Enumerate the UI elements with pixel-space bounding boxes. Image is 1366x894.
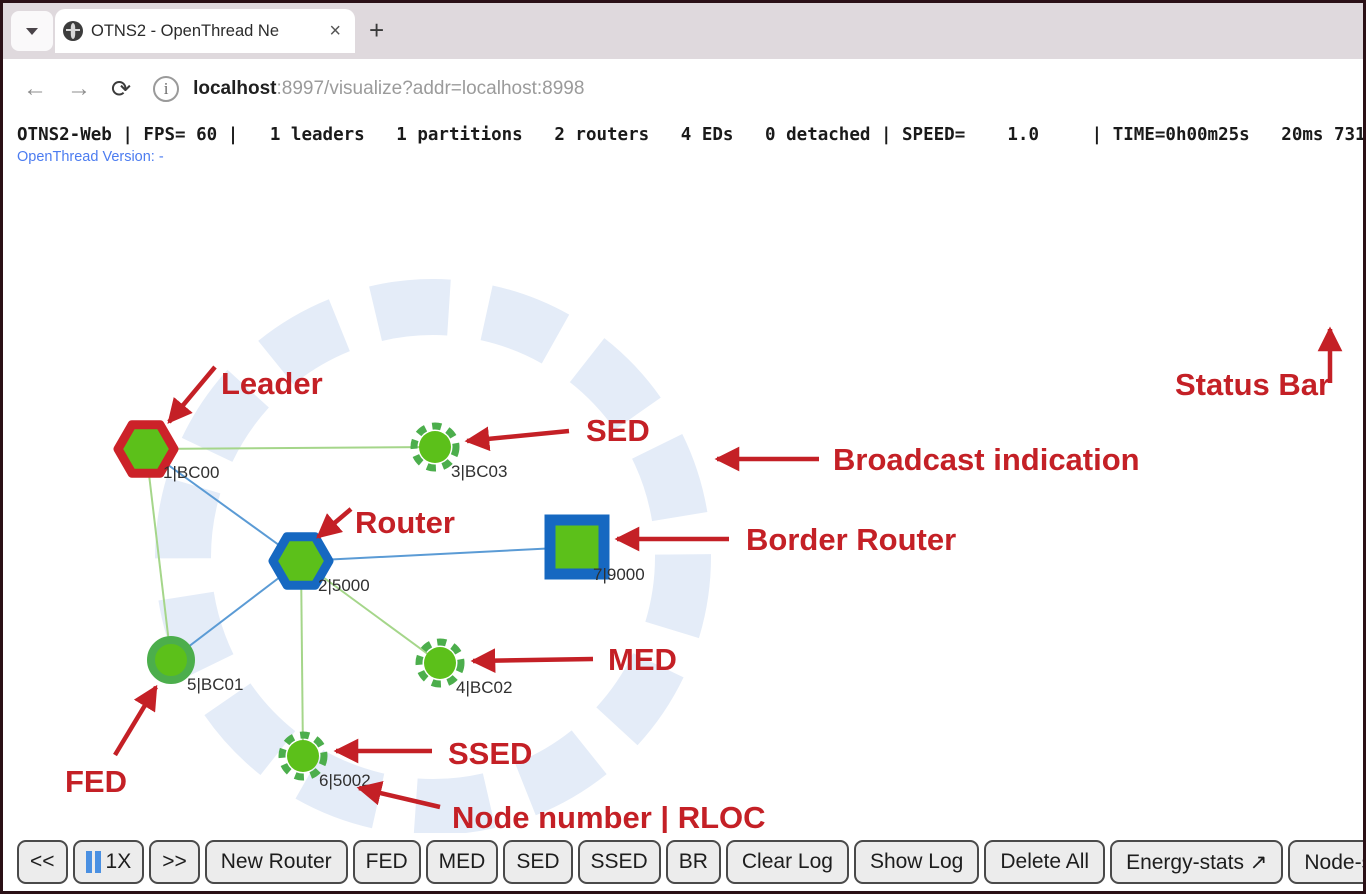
back-icon[interactable]: ← [23, 75, 47, 103]
browser-tab[interactable]: OTNS2 - OpenThread Ne × [55, 9, 355, 53]
annotation-arrows [3, 167, 1363, 891]
tab-title: OTNS2 - OpenThread Ne [91, 22, 323, 41]
action-bar: <<1X>>New RouterFEDMEDSEDSSEDBRClear Log… [3, 833, 1363, 891]
annotation-broadcast: Broadcast indication [833, 442, 1140, 478]
add-br-label: BR [679, 850, 708, 874]
speed-label: 1X [106, 850, 132, 874]
status-bar: OTNS2-Web | FPS= 60 | 1 leaders 1 partit… [3, 119, 1363, 167]
node-stats-button[interactable]: Node-stats ↗ [1288, 840, 1363, 884]
clear-log-label: Clear Log [742, 850, 833, 874]
annotation-border-router: Border Router [746, 522, 956, 558]
step-forward-button[interactable]: >> [149, 840, 200, 884]
speed-button[interactable]: 1X [73, 840, 145, 884]
arrow-leader [169, 367, 215, 422]
step-forward-label: >> [162, 850, 187, 874]
show-log-label: Show Log [870, 850, 963, 874]
add-fed-button[interactable]: FED [353, 840, 421, 884]
delete-all-button[interactable]: Delete All [984, 840, 1105, 884]
add-sed-label: SED [516, 850, 559, 874]
annotation-node-rloc: Node number | RLOC [452, 800, 766, 836]
reload-icon[interactable]: ⟳ [111, 75, 131, 104]
arrow-sed [467, 431, 569, 441]
navigation-bar: ← → ⟳ i localhost:8997/visualize?addr=lo… [3, 59, 1363, 119]
add-med-button[interactable]: MED [426, 840, 499, 884]
address-bar[interactable]: i localhost:8997/visualize?addr=localhos… [153, 76, 1363, 102]
arrow-med [473, 659, 593, 661]
close-icon[interactable]: × [323, 21, 347, 41]
chevron-down-icon [26, 28, 38, 35]
delete-all-label: Delete All [1000, 850, 1089, 874]
url-host: localhost [193, 78, 276, 99]
energy-stats-button[interactable]: Energy-stats ↗ [1110, 840, 1283, 884]
globe-icon [63, 21, 83, 41]
pause-icon [86, 851, 101, 873]
add-br-button[interactable]: BR [666, 840, 721, 884]
add-sed-button[interactable]: SED [503, 840, 572, 884]
energy-stats-label: Energy-stats ↗ [1126, 850, 1267, 875]
annotation-leader: Leader [221, 366, 323, 402]
arrow-router [318, 509, 351, 537]
browser-chrome: OTNS2 - OpenThread Ne × + ← → ⟳ i localh… [3, 3, 1363, 65]
url-path: :8997/visualize?addr=localhost:8998 [277, 78, 585, 99]
show-log-button[interactable]: Show Log [854, 840, 979, 884]
add-ssed-label: SSED [591, 850, 648, 874]
status-line: OTNS2-Web | FPS= 60 | 1 leaders 1 partit… [17, 125, 1363, 145]
forward-icon[interactable]: → [67, 75, 91, 103]
add-med-label: MED [439, 850, 486, 874]
openthread-version: OpenThread Version: - [17, 149, 164, 165]
step-back-button[interactable]: << [17, 840, 68, 884]
arrow-node-rloc [359, 788, 440, 807]
annotation-status-bar: Status Bar [1175, 367, 1330, 403]
add-fed-label: FED [366, 850, 408, 874]
clear-log-button[interactable]: Clear Log [726, 840, 849, 884]
new-router-label: New Router [221, 850, 332, 874]
step-back-label: << [30, 850, 55, 874]
tab-strip: OTNS2 - OpenThread Ne × + [3, 3, 1363, 59]
new-tab-button[interactable]: + [369, 17, 384, 43]
new-router-button[interactable]: New Router [205, 840, 348, 884]
arrow-fed [115, 687, 156, 755]
add-ssed-button[interactable]: SSED [578, 840, 661, 884]
node-stats-label: Node-stats ↗ [1304, 850, 1363, 875]
annotation-sed: SED [586, 413, 650, 449]
tab-list-button[interactable] [11, 11, 53, 51]
url-text: localhost:8997/visualize?addr=localhost:… [193, 78, 584, 100]
network-canvas[interactable]: 1|BC002|50003|BC034|BC025|BC016|50027|90… [3, 167, 1363, 891]
otns-page: OTNS2-Web | FPS= 60 | 1 leaders 1 partit… [3, 119, 1363, 891]
annotation-fed: FED [65, 764, 127, 800]
annotation-router: Router [355, 505, 455, 541]
info-icon[interactable]: i [153, 76, 179, 102]
annotation-ssed: SSED [448, 736, 532, 772]
annotation-med: MED [608, 642, 677, 678]
browser-window: OTNS2 - OpenThread Ne × + ← → ⟳ i localh… [0, 0, 1366, 894]
